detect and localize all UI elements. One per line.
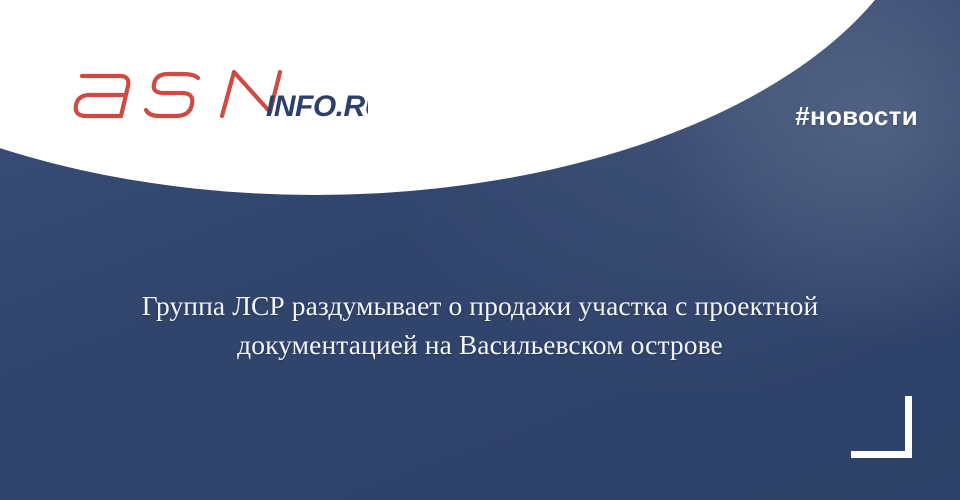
hashtag-label: #новости	[795, 103, 918, 129]
logo-suffix-info-ru: INFO.RU	[266, 90, 368, 123]
site-logo[interactable]: INFO.RU	[68, 60, 368, 124]
page-title: Группа ЛСР раздумывает о продажи участка…	[50, 286, 910, 364]
logo-svg: INFO.RU	[68, 60, 368, 124]
corner-bracket-vertical	[905, 396, 912, 458]
logo-mark-asn	[76, 72, 280, 116]
corner-bracket-horizontal	[851, 451, 912, 458]
logo-suffix-text: INFO.RU	[266, 90, 368, 123]
news-card: INFO.RU #новости Группа ЛСР раздумывает …	[0, 0, 960, 500]
corner-bracket-icon	[851, 396, 912, 458]
